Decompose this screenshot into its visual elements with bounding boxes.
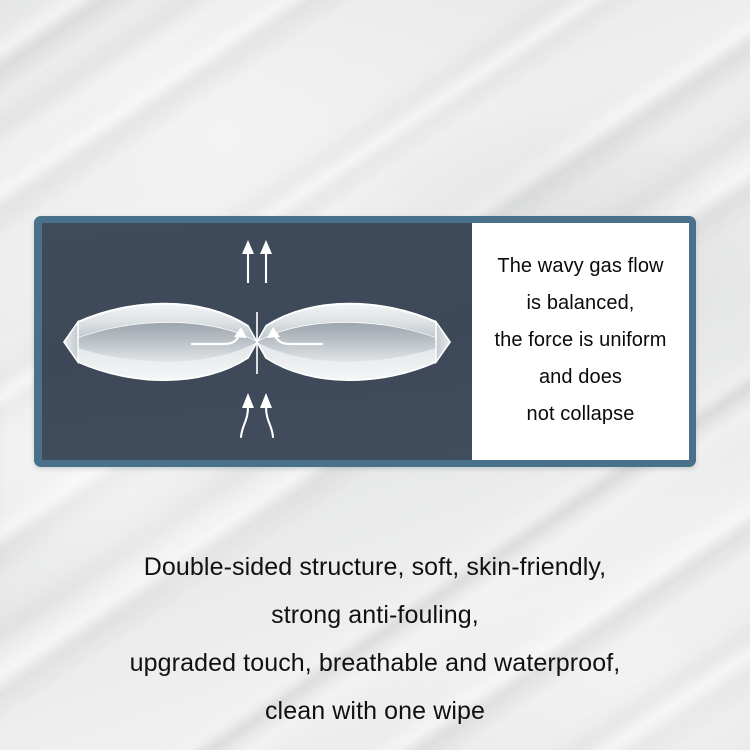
feature-text-line: the force is uniform: [494, 322, 666, 359]
feature-text-line: The wavy gas flow: [497, 248, 663, 285]
feature-text-line: is balanced,: [527, 285, 635, 322]
top-arrows-svg: [42, 237, 472, 285]
top-airflow-arrows: [42, 237, 472, 290]
bottom-airflow-arrows: [42, 379, 472, 444]
airflow-diagram: [42, 223, 472, 460]
bottom-arrows-svg: [42, 379, 472, 439]
feature-text-line: not collapse: [527, 396, 635, 433]
product-caption: Double-sided structure, soft, skin-frien…: [0, 543, 750, 735]
feature-text-line: and does: [539, 359, 622, 396]
feature-panel: The wavy gas flow is balanced, the force…: [34, 216, 696, 467]
left-lobe: [64, 303, 257, 380]
feature-text-panel: The wavy gas flow is balanced, the force…: [472, 223, 689, 460]
caption-line: upgraded touch, breathable and waterproo…: [0, 639, 750, 687]
caption-line: strong anti-fouling,: [0, 591, 750, 639]
right-lobe: [257, 303, 450, 380]
product-feature-image: The wavy gas flow is balanced, the force…: [0, 0, 750, 750]
caption-line: Double-sided structure, soft, skin-frien…: [0, 543, 750, 591]
caption-line: clean with one wipe: [0, 687, 750, 735]
